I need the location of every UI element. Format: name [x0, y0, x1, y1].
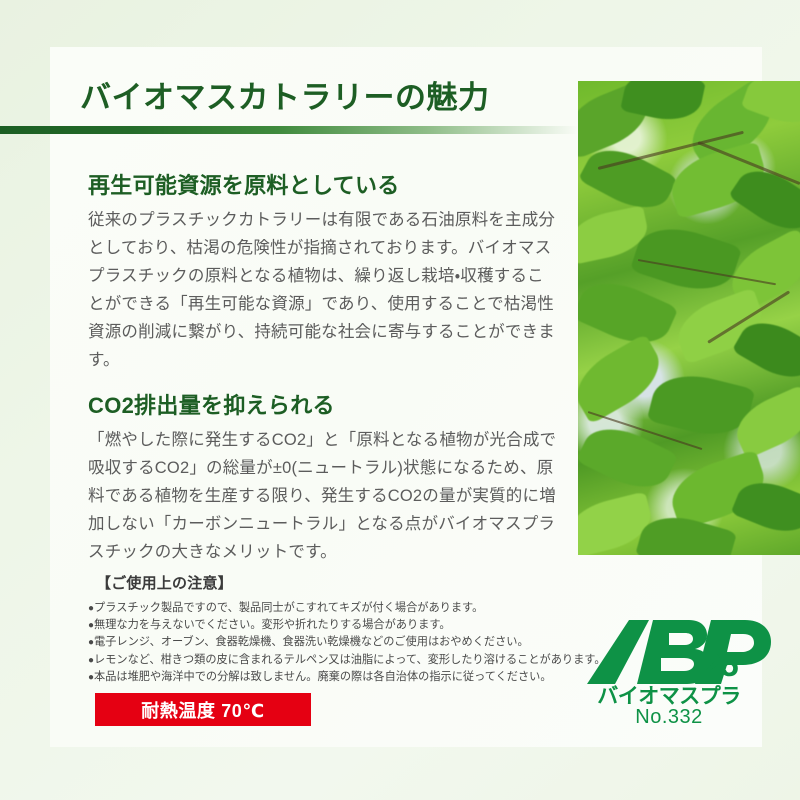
caution-item-text: レモンなど、柑きつ類の皮に含まれるテルペン又は油脂によって、変形したり溶けること…	[94, 654, 606, 666]
hero-leaves-photo	[578, 81, 800, 555]
jbp-biomass-logo: 25 バイオマスプラ No.332	[585, 618, 775, 733]
list-item: ●プラスチック製品ですので、製品同士がこすれてキズが付く場合があります。	[88, 600, 558, 617]
caution-item-text: プラスチック製品ですので、製品同士がこすれてキズが付く場合があります。	[94, 602, 483, 614]
caution-item-text: 本品は堆肥や海洋中での分解は致しません。廃棄の際は各自治体の指示に従ってください…	[94, 671, 551, 683]
caution-list: ●プラスチック製品ですので、製品同士がこすれてキズが付く場合があります。 ●無理…	[88, 600, 558, 686]
list-item: ●無理な力を与えないでください。変形や折れたりする場合があります。	[88, 617, 558, 634]
jbp-mark-icon	[585, 618, 775, 688]
caution-item-text: 無理な力を与えないでください。変形や折れたりする場合があります。	[94, 619, 451, 631]
list-item: ●レモンなど、柑きつ類の皮に含まれるテルペン又は油脂によって、変形したり溶けるこ…	[88, 652, 558, 669]
list-item: ●電子レンジ、オーブン、食器乾燥機、食器洗い乾燥機などのご使用はおやめください。	[88, 634, 558, 651]
caution-title: 【ご使用上の注意】	[96, 572, 558, 593]
section-body-renewable: 従来のプラスチックカトラリーは有限である石油原料を主成分としており、枯渇の危険性…	[88, 206, 558, 374]
logo-registration-number: No.332	[589, 706, 749, 729]
title-divider	[0, 126, 578, 134]
page-title: バイオマスカトラリーの魅力	[80, 72, 490, 117]
caution-item-text: 電子レンジ、オーブン、食器乾燥機、食器洗い乾燥機などのご使用はおやめください。	[94, 636, 529, 648]
section-body-co2: 「燃やした際に発生するCO2」と「原料となる植物が光合成で吸収するCO2」の総量…	[88, 426, 558, 566]
caution-block: 【ご使用上の注意】 ●プラスチック製品ですので、製品同士がこすれてキズが付く場合…	[88, 572, 558, 686]
heat-resistance-badge: 耐熱温度 70℃	[95, 693, 311, 726]
section-heading-co2: CO2排出量を抑えられる	[88, 388, 335, 420]
page-canvas: バイオマスカトラリーの魅力 再生可能資源を原料としている 従来のプラスチックカト…	[0, 0, 800, 800]
logo-biomass-percentage: 25	[703, 646, 738, 684]
section-heading-renewable: 再生可能資源を原料としている	[88, 168, 400, 200]
list-item: ●本品は堆肥や海洋中での分解は致しません。廃棄の際は各自治体の指示に従ってくださ…	[88, 669, 558, 686]
